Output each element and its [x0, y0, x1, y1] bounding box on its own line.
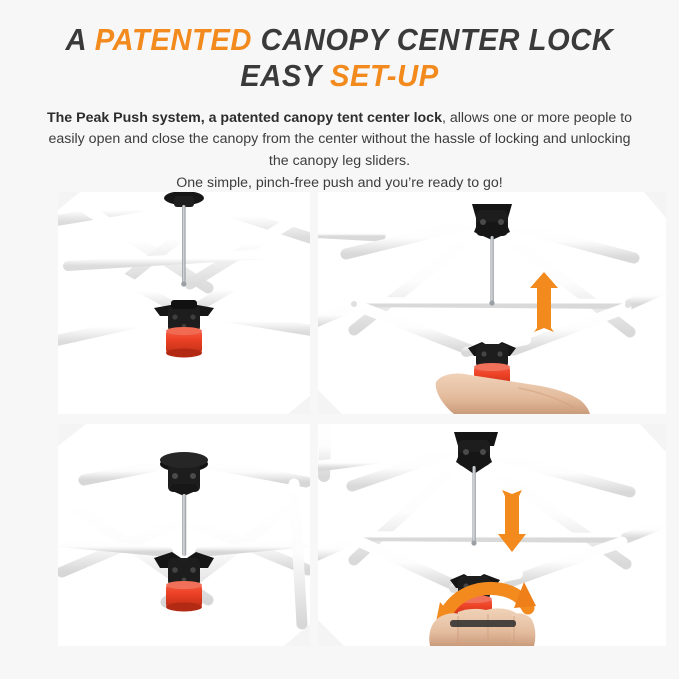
panel-canopy-frame-closed-center-lock: [58, 192, 310, 414]
canopy-frame-closed-illustration: [58, 192, 310, 414]
center-rod: [490, 236, 493, 302]
peak-cap-top: [472, 204, 512, 240]
center-lock-red-base: [166, 581, 202, 612]
headline-text-easy: EASY: [240, 58, 330, 93]
page-title: A PATENTED CANOPY CENTER LOCK EASY SET-U…: [49, 22, 631, 94]
center-rod: [472, 466, 475, 542]
headline-line-2: EASY SET-UP: [49, 58, 631, 94]
product-photo-grid: [0, 186, 679, 666]
center-lock-engaged-illustration: [58, 424, 310, 646]
headline-accent-patented: PATENTED: [95, 22, 252, 57]
headline-accent-setup: SET-UP: [330, 58, 439, 93]
headline-text-part2: CANOPY CENTER LOCK: [252, 22, 614, 57]
center-lock-red-base: [166, 327, 202, 358]
headline-text-part1: A: [66, 22, 95, 57]
panel-center-lock-assembly-engaged: [58, 424, 310, 646]
hand-push-up-illustration: [318, 192, 666, 414]
description-paragraph: The Peak Push system, a patented canopy …: [40, 108, 640, 194]
description-main: The Peak Push system, a patented canopy …: [40, 108, 640, 173]
hands-release-illustration: [318, 424, 666, 646]
header: A PATENTED CANOPY CENTER LOCK EASY SET-U…: [0, 0, 679, 194]
center-rod: [182, 205, 186, 283]
description-strong-lead: The Peak Push system, a patented canopy …: [47, 110, 442, 126]
panel-two-hands-releasing-center-lock: [318, 424, 666, 646]
panel-hand-pushing-up-center-lock: [318, 192, 666, 414]
center-rod: [182, 494, 186, 556]
